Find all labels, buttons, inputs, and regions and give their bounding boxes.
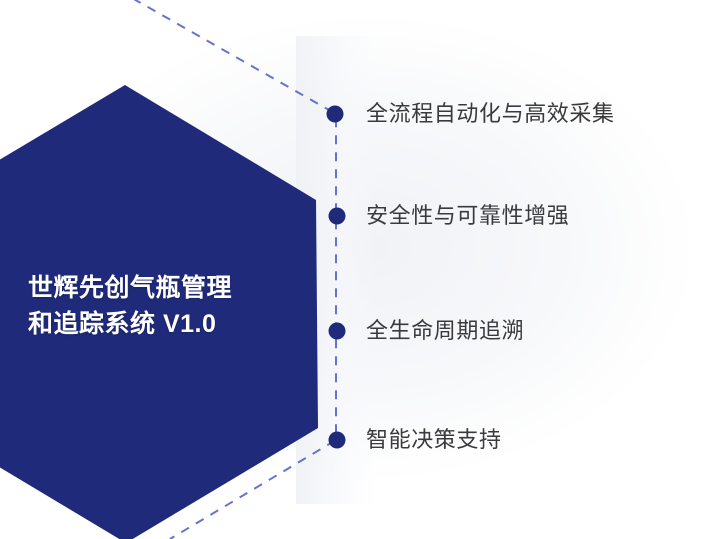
feature-item-4[interactable]: 智能决策支持	[366, 425, 502, 455]
feature-list: 全流程自动化与高效采集 安全性与可靠性增强 全生命周期追溯 智能决策支持	[0, 0, 711, 539]
feature-item-2[interactable]: 安全性与可靠性增强	[366, 201, 569, 231]
feature-label-3: 全生命周期追溯	[366, 320, 524, 342]
feature-label-4: 智能决策支持	[366, 429, 502, 451]
feature-label-2: 安全性与可靠性增强	[366, 205, 569, 227]
feature-label-1: 全流程自动化与高效采集	[366, 103, 615, 125]
slide-canvas: 世辉先创气瓶管理 和追踪系统 V1.0 全流程自动化与高效采集 安全性与可靠性增…	[0, 0, 711, 539]
feature-item-3[interactable]: 全生命周期追溯	[366, 316, 524, 346]
feature-item-1[interactable]: 全流程自动化与高效采集	[366, 99, 615, 129]
